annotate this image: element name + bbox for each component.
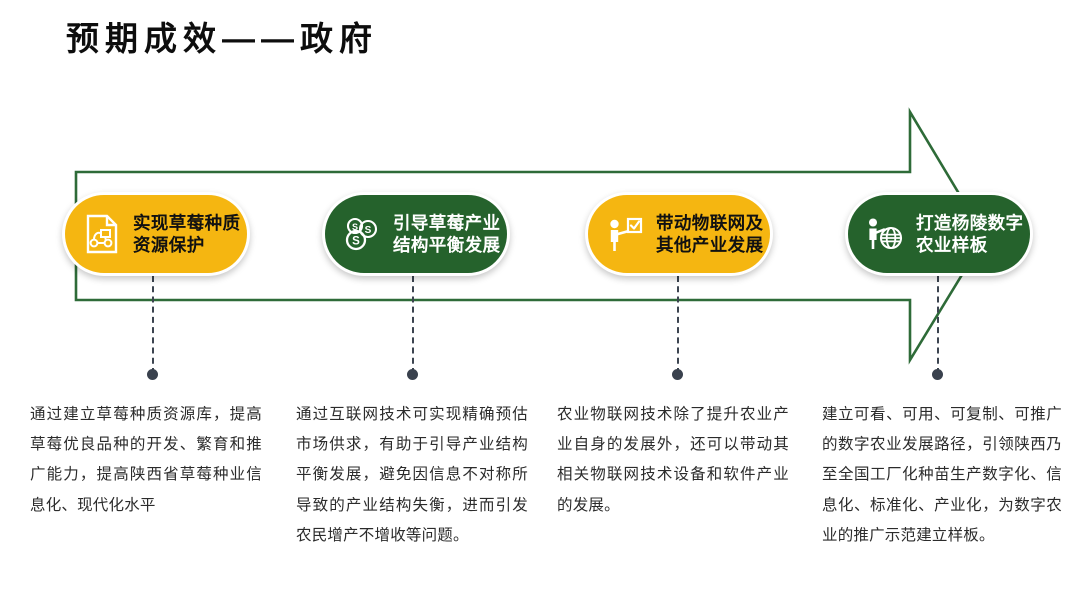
connector-dot-4 <box>932 369 943 380</box>
step-pill-1-label: 实现草莓种质 资源保护 <box>133 212 240 257</box>
page-title: 预期成效——政府 <box>66 18 378 61</box>
step-pill-1[interactable]: 实现草莓种质 资源保护 <box>62 192 250 276</box>
coins-dollar-icon: S S S <box>341 213 383 255</box>
connector-line-4 <box>937 276 939 374</box>
step-pill-3[interactable]: 带动物联网及 其他产业发展 <box>585 192 773 276</box>
step-pill-2-label: 引导草莓产业 结构平衡发展 <box>393 212 500 257</box>
svg-text:S: S <box>365 225 372 236</box>
step-pill-4-label: 打造杨陵数字 农业样板 <box>916 212 1023 257</box>
connector-line-2 <box>412 276 414 374</box>
step-description-1: 通过建立草莓种质资源库，提高草莓优良品种的开发、繁育和推广能力，提高陕西省草莓种… <box>30 400 262 521</box>
step-description-2: 通过互联网技术可实现精确预估市场供求，有助于引导产业结构平衡发展，避免因信息不对… <box>296 400 528 551</box>
step-pill-3-label: 带动物联网及 其他产业发展 <box>656 212 763 257</box>
svg-text:S: S <box>352 236 360 248</box>
slide-canvas: 预期成效——政府 实现草莓种质 资源保护 <box>0 0 1080 609</box>
step-description-4: 建立可看、可用、可复制、可推广的数字农业发展路径，引领陕西乃至全国工厂化种苗生产… <box>822 400 1062 551</box>
document-flowchart-icon <box>81 213 123 255</box>
person-checklist-icon <box>604 213 646 255</box>
person-globe-icon <box>864 213 906 255</box>
connector-dot-2 <box>407 369 418 380</box>
connector-line-1 <box>152 276 154 374</box>
connector-line-3 <box>677 276 679 374</box>
connector-dot-1 <box>147 369 158 380</box>
connector-dot-3 <box>672 369 683 380</box>
step-pill-2[interactable]: S S S 引导草莓产业 结构平衡发展 <box>322 192 510 276</box>
step-description-3: 农业物联网技术除了提升农业产业自身的发展外，还可以带动其相关物联网技术设备和软件… <box>557 400 789 521</box>
step-pill-4[interactable]: 打造杨陵数字 农业样板 <box>845 192 1033 276</box>
